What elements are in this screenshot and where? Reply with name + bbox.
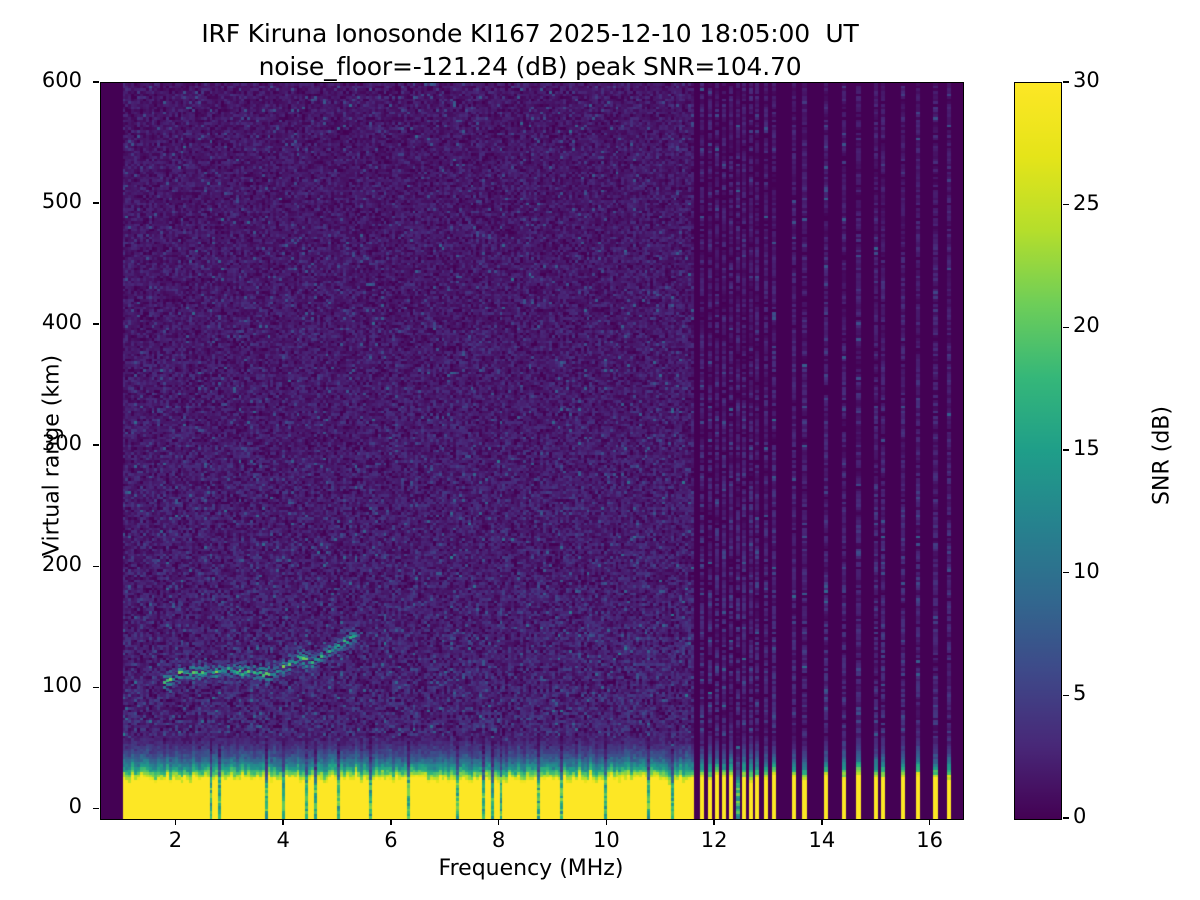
x-axis-tick — [282, 819, 283, 825]
y-axis-tick — [93, 202, 99, 203]
y-axis-tick — [93, 687, 99, 688]
x-axis-label: Frequency (MHz) — [100, 856, 962, 881]
title-line-primary: IRF Kiruna Ionosonde KI167 2025-12-10 18… — [0, 18, 1060, 51]
colorbar-tick — [1063, 572, 1069, 573]
colorbar-tick-label: 30 — [1073, 68, 1153, 92]
colorbar-label: SNR (dB) — [1150, 88, 1175, 824]
x-axis-tick — [390, 819, 391, 825]
colorbar-tick — [1063, 81, 1069, 82]
colorbar-tick — [1063, 204, 1069, 205]
x-axis-tick — [821, 819, 822, 825]
colorbar-tick — [1063, 817, 1069, 818]
colorbar-tick-label: 25 — [1073, 191, 1153, 215]
x-axis-tick-label: 12 — [684, 828, 744, 852]
y-axis-tick — [93, 323, 99, 324]
y-axis-tick-label: 300 — [0, 431, 82, 455]
x-axis-tick-label: 2 — [145, 828, 205, 852]
x-axis-tick-label: 4 — [253, 828, 313, 852]
colorbar-tick — [1063, 695, 1069, 696]
colorbar-gradient — [1015, 83, 1061, 819]
x-axis-tick-label: 10 — [576, 828, 636, 852]
x-axis-tick — [175, 819, 176, 825]
ionogram-figure: IRF Kiruna Ionosonde KI167 2025-12-10 18… — [0, 0, 1200, 900]
colorbar — [1014, 82, 1062, 820]
ionogram-plot-area — [100, 82, 964, 820]
y-axis-tick-label: 200 — [0, 552, 82, 576]
ionogram-heatmap — [101, 83, 963, 819]
y-axis-tick — [93, 566, 99, 567]
colorbar-tick — [1063, 327, 1069, 328]
y-axis-tick-label: 100 — [0, 673, 82, 697]
x-axis-tick-label: 16 — [900, 828, 960, 852]
x-axis-tick-label: 14 — [792, 828, 852, 852]
y-axis-tick-label: 400 — [0, 310, 82, 334]
y-axis-tick-label: 600 — [0, 68, 82, 92]
colorbar-tick-label: 5 — [1073, 681, 1153, 705]
y-axis-tick — [93, 81, 99, 82]
x-axis-tick-label: 8 — [469, 828, 529, 852]
x-axis-tick — [606, 819, 607, 825]
colorbar-tick-label: 0 — [1073, 804, 1153, 828]
colorbar-tick — [1063, 449, 1069, 450]
x-axis-tick — [498, 819, 499, 825]
colorbar-tick-label: 10 — [1073, 559, 1153, 583]
y-axis-tick-label: 500 — [0, 189, 82, 213]
y-axis-tick — [93, 444, 99, 445]
x-axis-tick-label: 6 — [361, 828, 421, 852]
x-axis-tick — [713, 819, 714, 825]
y-axis-tick-label: 0 — [0, 794, 82, 818]
colorbar-tick-label: 15 — [1073, 436, 1153, 460]
title-line-secondary: noise_floor=-121.24 (dB) peak SNR=104.70 — [0, 51, 1060, 84]
y-axis-tick — [93, 808, 99, 809]
colorbar-tick-label: 20 — [1073, 313, 1153, 337]
x-axis-tick — [929, 819, 930, 825]
figure-title: IRF Kiruna Ionosonde KI167 2025-12-10 18… — [0, 18, 1060, 83]
